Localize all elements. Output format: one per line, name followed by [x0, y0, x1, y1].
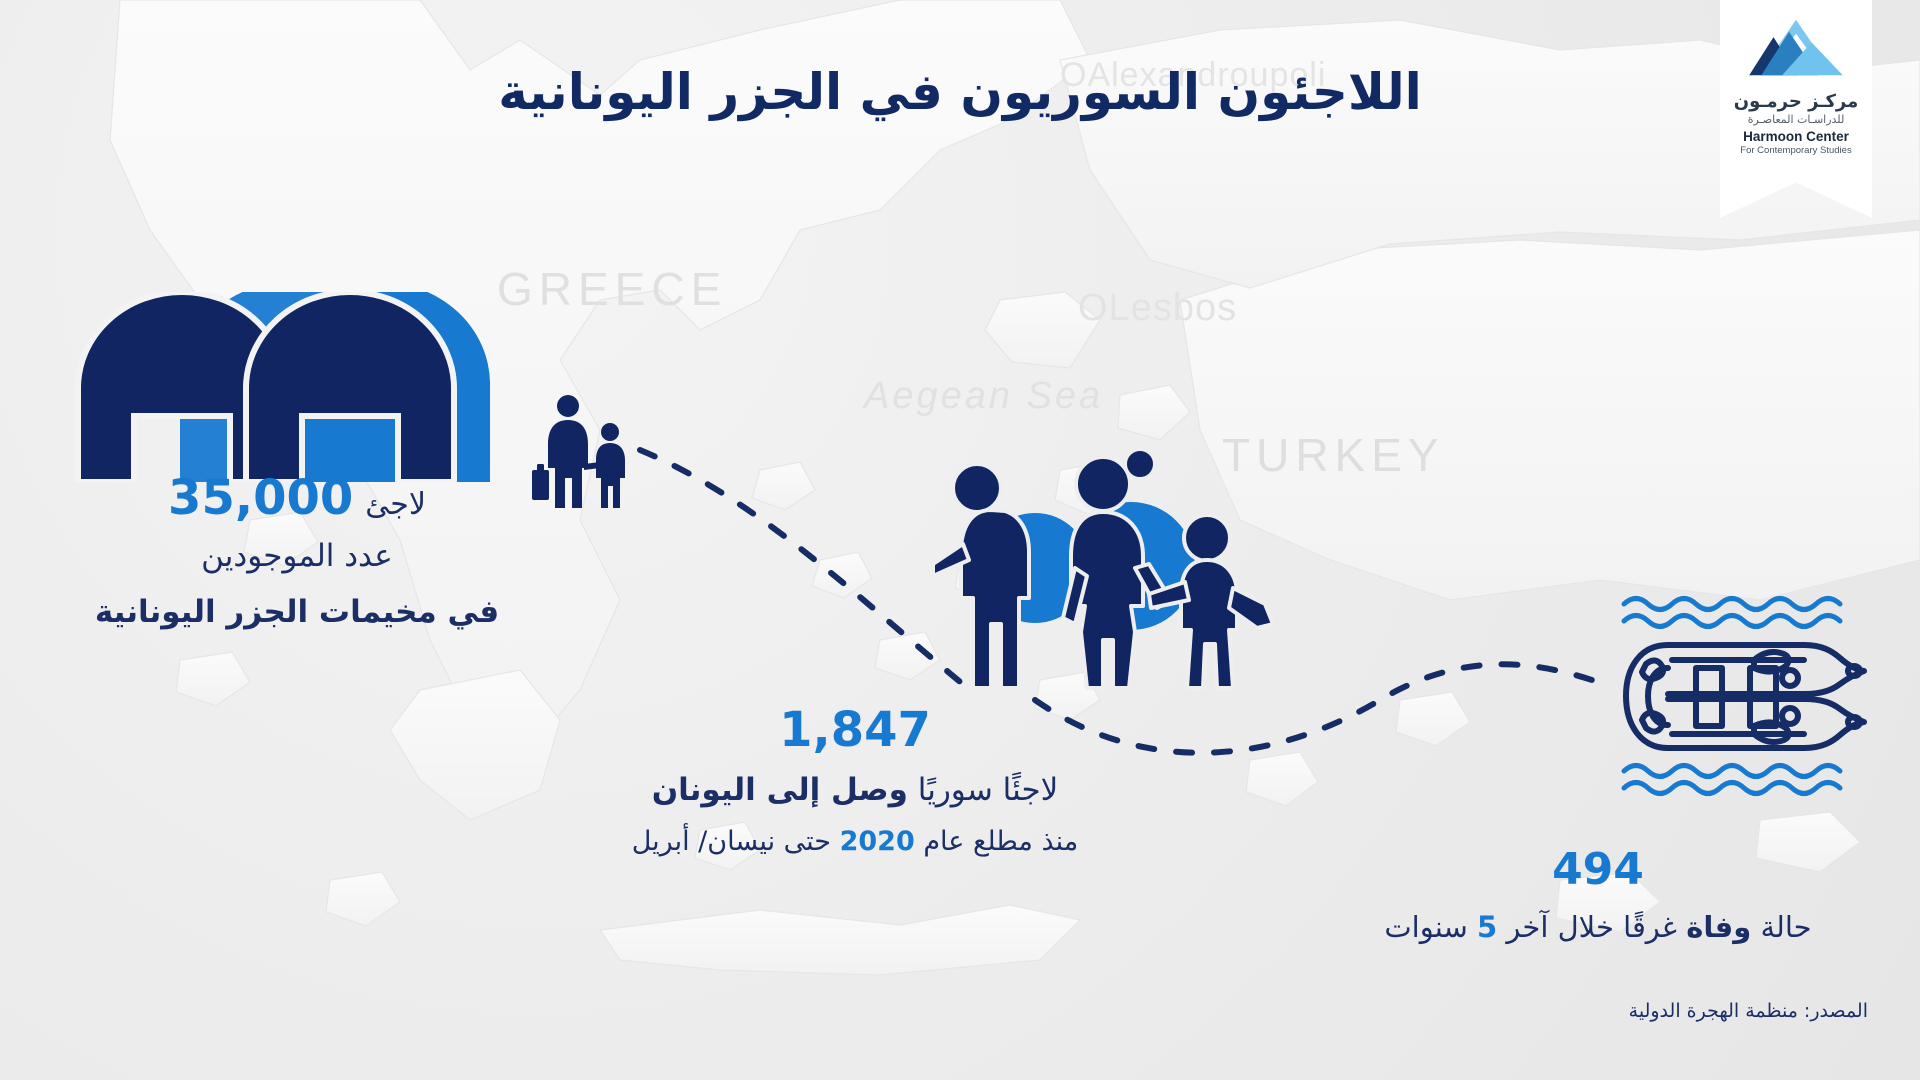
camps-value: 35,000 [168, 474, 353, 522]
deaths-description: حالة وفاة غرقًا خلال آخر 5 سنوات [1298, 908, 1898, 947]
map-label-aegean-sea: Aegean Sea [864, 375, 1103, 418]
deaths-text-bold: وفاة [1686, 910, 1751, 944]
refugee-family-icon [935, 448, 1295, 698]
arrivals-line2-suffix: حتى نيسان/ أبريل [632, 826, 840, 857]
deaths-text-a: حالة [1751, 910, 1811, 944]
stat-block-camps: 35,000 لاجئ عدد الموجودين في مخيمات الجز… [62, 474, 532, 634]
deaths-text-c: سنوات [1384, 910, 1477, 944]
deaths-text-b: غرقًا خلال آخر [1497, 910, 1686, 944]
arrivals-line1-bold: وصل إلى اليونان [652, 772, 908, 808]
arrivals-line2-prefix: منذ مطلع عام [915, 826, 1079, 857]
logo-arabic-name: مركـز حرمـون [1734, 91, 1859, 112]
stat-block-arrivals: 1,847 لاجئًا سوريًا وصل إلى اليونان منذ … [525, 706, 1185, 860]
mother-and-child-icon [528, 392, 633, 512]
page-title: اللاجئون السوريون في الجزر اليونانية [0, 62, 1920, 122]
arrivals-year: 2020 [840, 826, 915, 857]
arrivals-description-line2: منذ مطلع عام 2020 حتى نيسان/ أبريل [525, 824, 1185, 860]
dinghy-boat-icon [1608, 588, 1898, 803]
arrivals-value: 1,847 [525, 706, 1185, 754]
camps-headline: 35,000 لاجئ [62, 474, 532, 522]
tent-icon [70, 292, 580, 482]
arrivals-description-line1: لاجئًا سوريًا وصل إلى اليونان [525, 770, 1185, 812]
harmoon-logo-ribbon[interactable]: مركـز حرمـون للدراسـات المعاصـرة Harmoon… [1720, 0, 1872, 218]
mountain-logo-icon [1744, 18, 1848, 84]
source-note: المصدر: منظمة الهجرة الدولية [1629, 1000, 1868, 1022]
infographic-canvas: GREECE TURKEY Aegean Sea OLesbos OAlexan… [0, 0, 1920, 1080]
logo-arabic-subtitle: للدراسـات المعاصـرة [1748, 113, 1845, 126]
deaths-value: 494 [1298, 848, 1898, 892]
deaths-years-count: 5 [1477, 910, 1497, 944]
logo-english-name: Harmoon Center [1743, 129, 1849, 144]
logo-english-subtitle: For Contemporary Studies [1740, 145, 1851, 156]
camps-unit-label: لاجئ [365, 487, 426, 522]
arrivals-line1-prefix: لاجئًا سوريًا [908, 772, 1058, 808]
stat-block-deaths: 494 حالة وفاة غرقًا خلال آخر 5 سنوات [1298, 848, 1898, 947]
camps-description-line1: عدد الموجودين [62, 536, 532, 578]
camps-description-line2: في مخيمات الجزر اليونانية [62, 592, 532, 634]
map-label-lesbos: OLesbos [1078, 287, 1237, 330]
